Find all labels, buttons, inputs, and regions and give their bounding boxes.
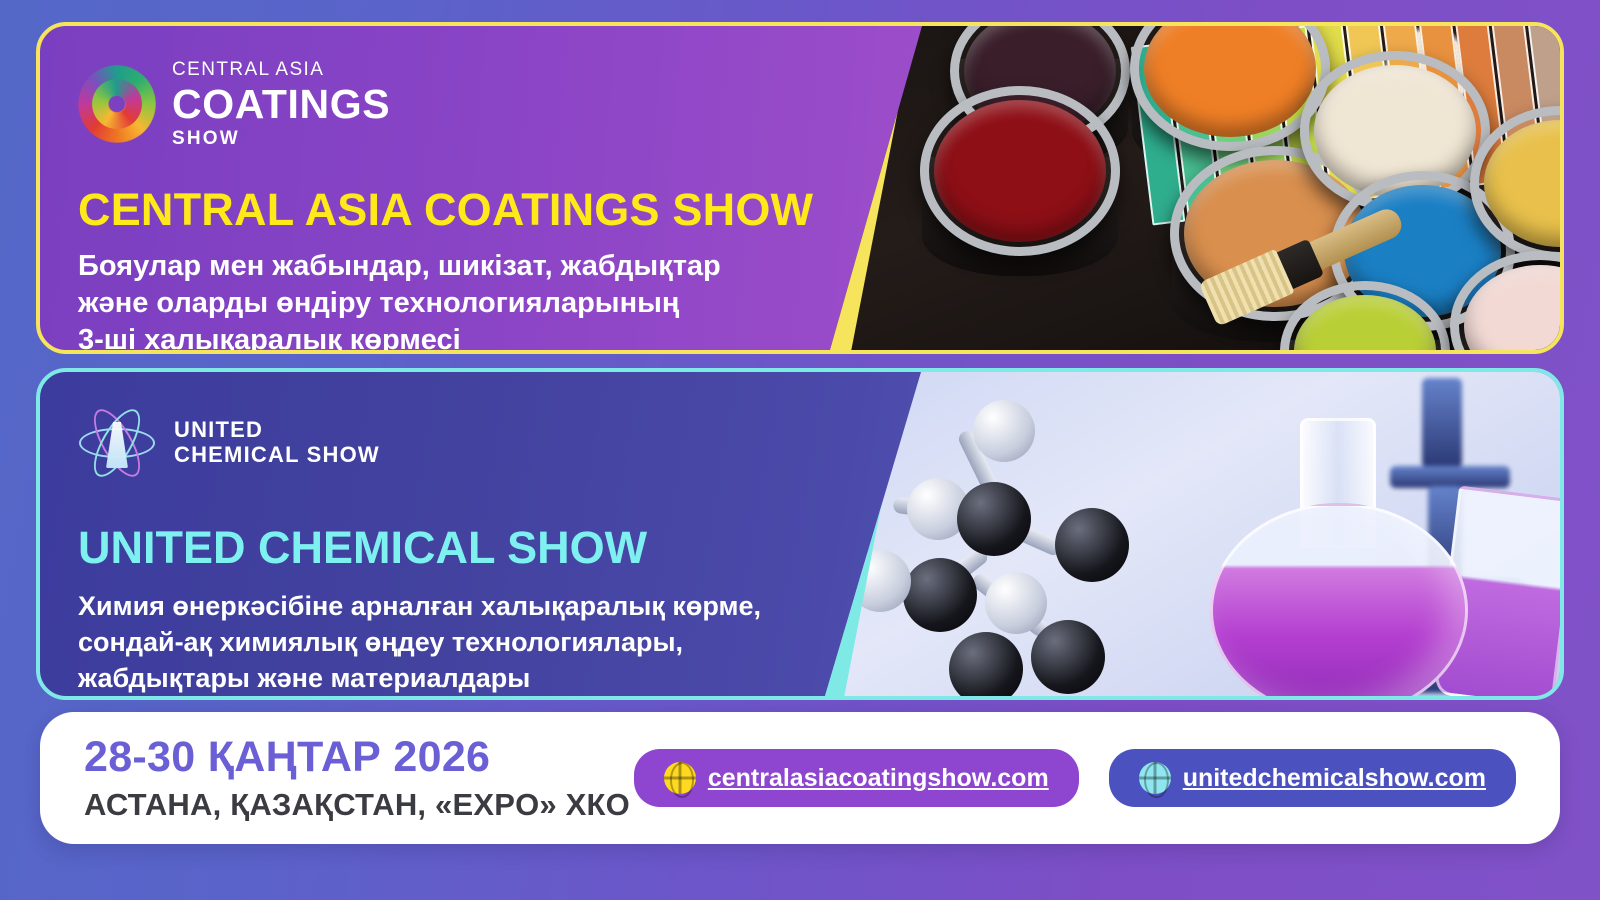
coatings-description-line: 3-ші халықаралық көрмесі bbox=[78, 322, 910, 354]
coatings-website-label: centralasiacoatingshow.com bbox=[708, 764, 1049, 793]
coatings-logo-line2: COATINGS bbox=[172, 84, 390, 125]
coatings-logo-line3: SHOW bbox=[172, 129, 390, 148]
coatings-headline: CENTRAL ASIA COATINGS SHOW bbox=[78, 184, 910, 236]
chemical-website-button[interactable]: unitedchemicalshow.com bbox=[1109, 749, 1516, 807]
coatings-logo: CENTRAL ASIA COATINGS SHOW bbox=[78, 60, 910, 148]
paint-can-yellow bbox=[1470, 106, 1560, 261]
website-links: centralasiacoatingshow.com unitedchemica… bbox=[634, 749, 1516, 807]
coatings-content: CENTRAL ASIA COATINGS SHOW CENTRAL ASIA … bbox=[40, 26, 910, 350]
coatings-description: Бояулар мен жабындар, шикізат, жабдықтар… bbox=[78, 248, 910, 354]
chemical-description-line: жабдықтары және материалдары bbox=[78, 660, 920, 696]
coatings-banner-card: CENTRAL ASIA COATINGS SHOW CENTRAL ASIA … bbox=[36, 22, 1564, 354]
chemical-banner-card: UNITED CHEMICAL SHOW UNITED CHEMICAL SHO… bbox=[36, 368, 1564, 700]
chemical-photo bbox=[825, 372, 1560, 696]
chemical-content: UNITED CHEMICAL SHOW UNITED CHEMICAL SHO… bbox=[40, 372, 920, 696]
event-location: АСТАНА, ҚАЗАҚСТАН, «EXPO» ХКО bbox=[84, 787, 630, 823]
globe-icon bbox=[664, 762, 696, 794]
globe-icon bbox=[1139, 762, 1171, 794]
coatings-logo-line1: CENTRAL ASIA bbox=[172, 60, 390, 79]
color-swirl-icon bbox=[78, 65, 156, 143]
coatings-description-line: Бояулар мен жабындар, шикізат, жабдықтар bbox=[78, 248, 910, 285]
coatings-photo bbox=[830, 26, 1560, 350]
chemical-headline: UNITED CHEMICAL SHOW bbox=[78, 522, 920, 574]
footer-bar: 28-30 ҚАҢТАР 2026 АСТАНА, ҚАЗАҚСТАН, «EX… bbox=[40, 712, 1560, 844]
chemical-description-line: Химия өнеркәсібіне арналған халықаралық … bbox=[78, 588, 920, 624]
chemical-logo: UNITED CHEMICAL SHOW bbox=[78, 404, 920, 482]
coatings-website-button[interactable]: centralasiacoatingshow.com bbox=[634, 749, 1079, 807]
chemical-description-line: сондай-ақ химиялық өңдеу технологиялары, bbox=[78, 624, 920, 660]
paint-can-pink bbox=[1450, 251, 1560, 350]
event-when-where: 28-30 ҚАҢТАР 2026 АСТАНА, ҚАЗАҚСТАН, «EX… bbox=[84, 733, 630, 823]
event-date: 28-30 ҚАҢТАР 2026 bbox=[84, 733, 630, 782]
atom-flask-icon bbox=[78, 404, 156, 482]
chemistry-flask bbox=[1204, 418, 1474, 696]
coatings-description-line: және оларды өндіру технологияларының bbox=[78, 285, 910, 322]
chemical-logo-line1: UNITED bbox=[174, 418, 380, 443]
paint-can-red bbox=[920, 86, 1120, 256]
chemical-logo-line2: CHEMICAL SHOW bbox=[174, 443, 380, 468]
chemical-website-label: unitedchemicalshow.com bbox=[1183, 764, 1486, 793]
chemical-description: Химия өнеркәсібіне арналған халықаралық … bbox=[78, 588, 920, 697]
